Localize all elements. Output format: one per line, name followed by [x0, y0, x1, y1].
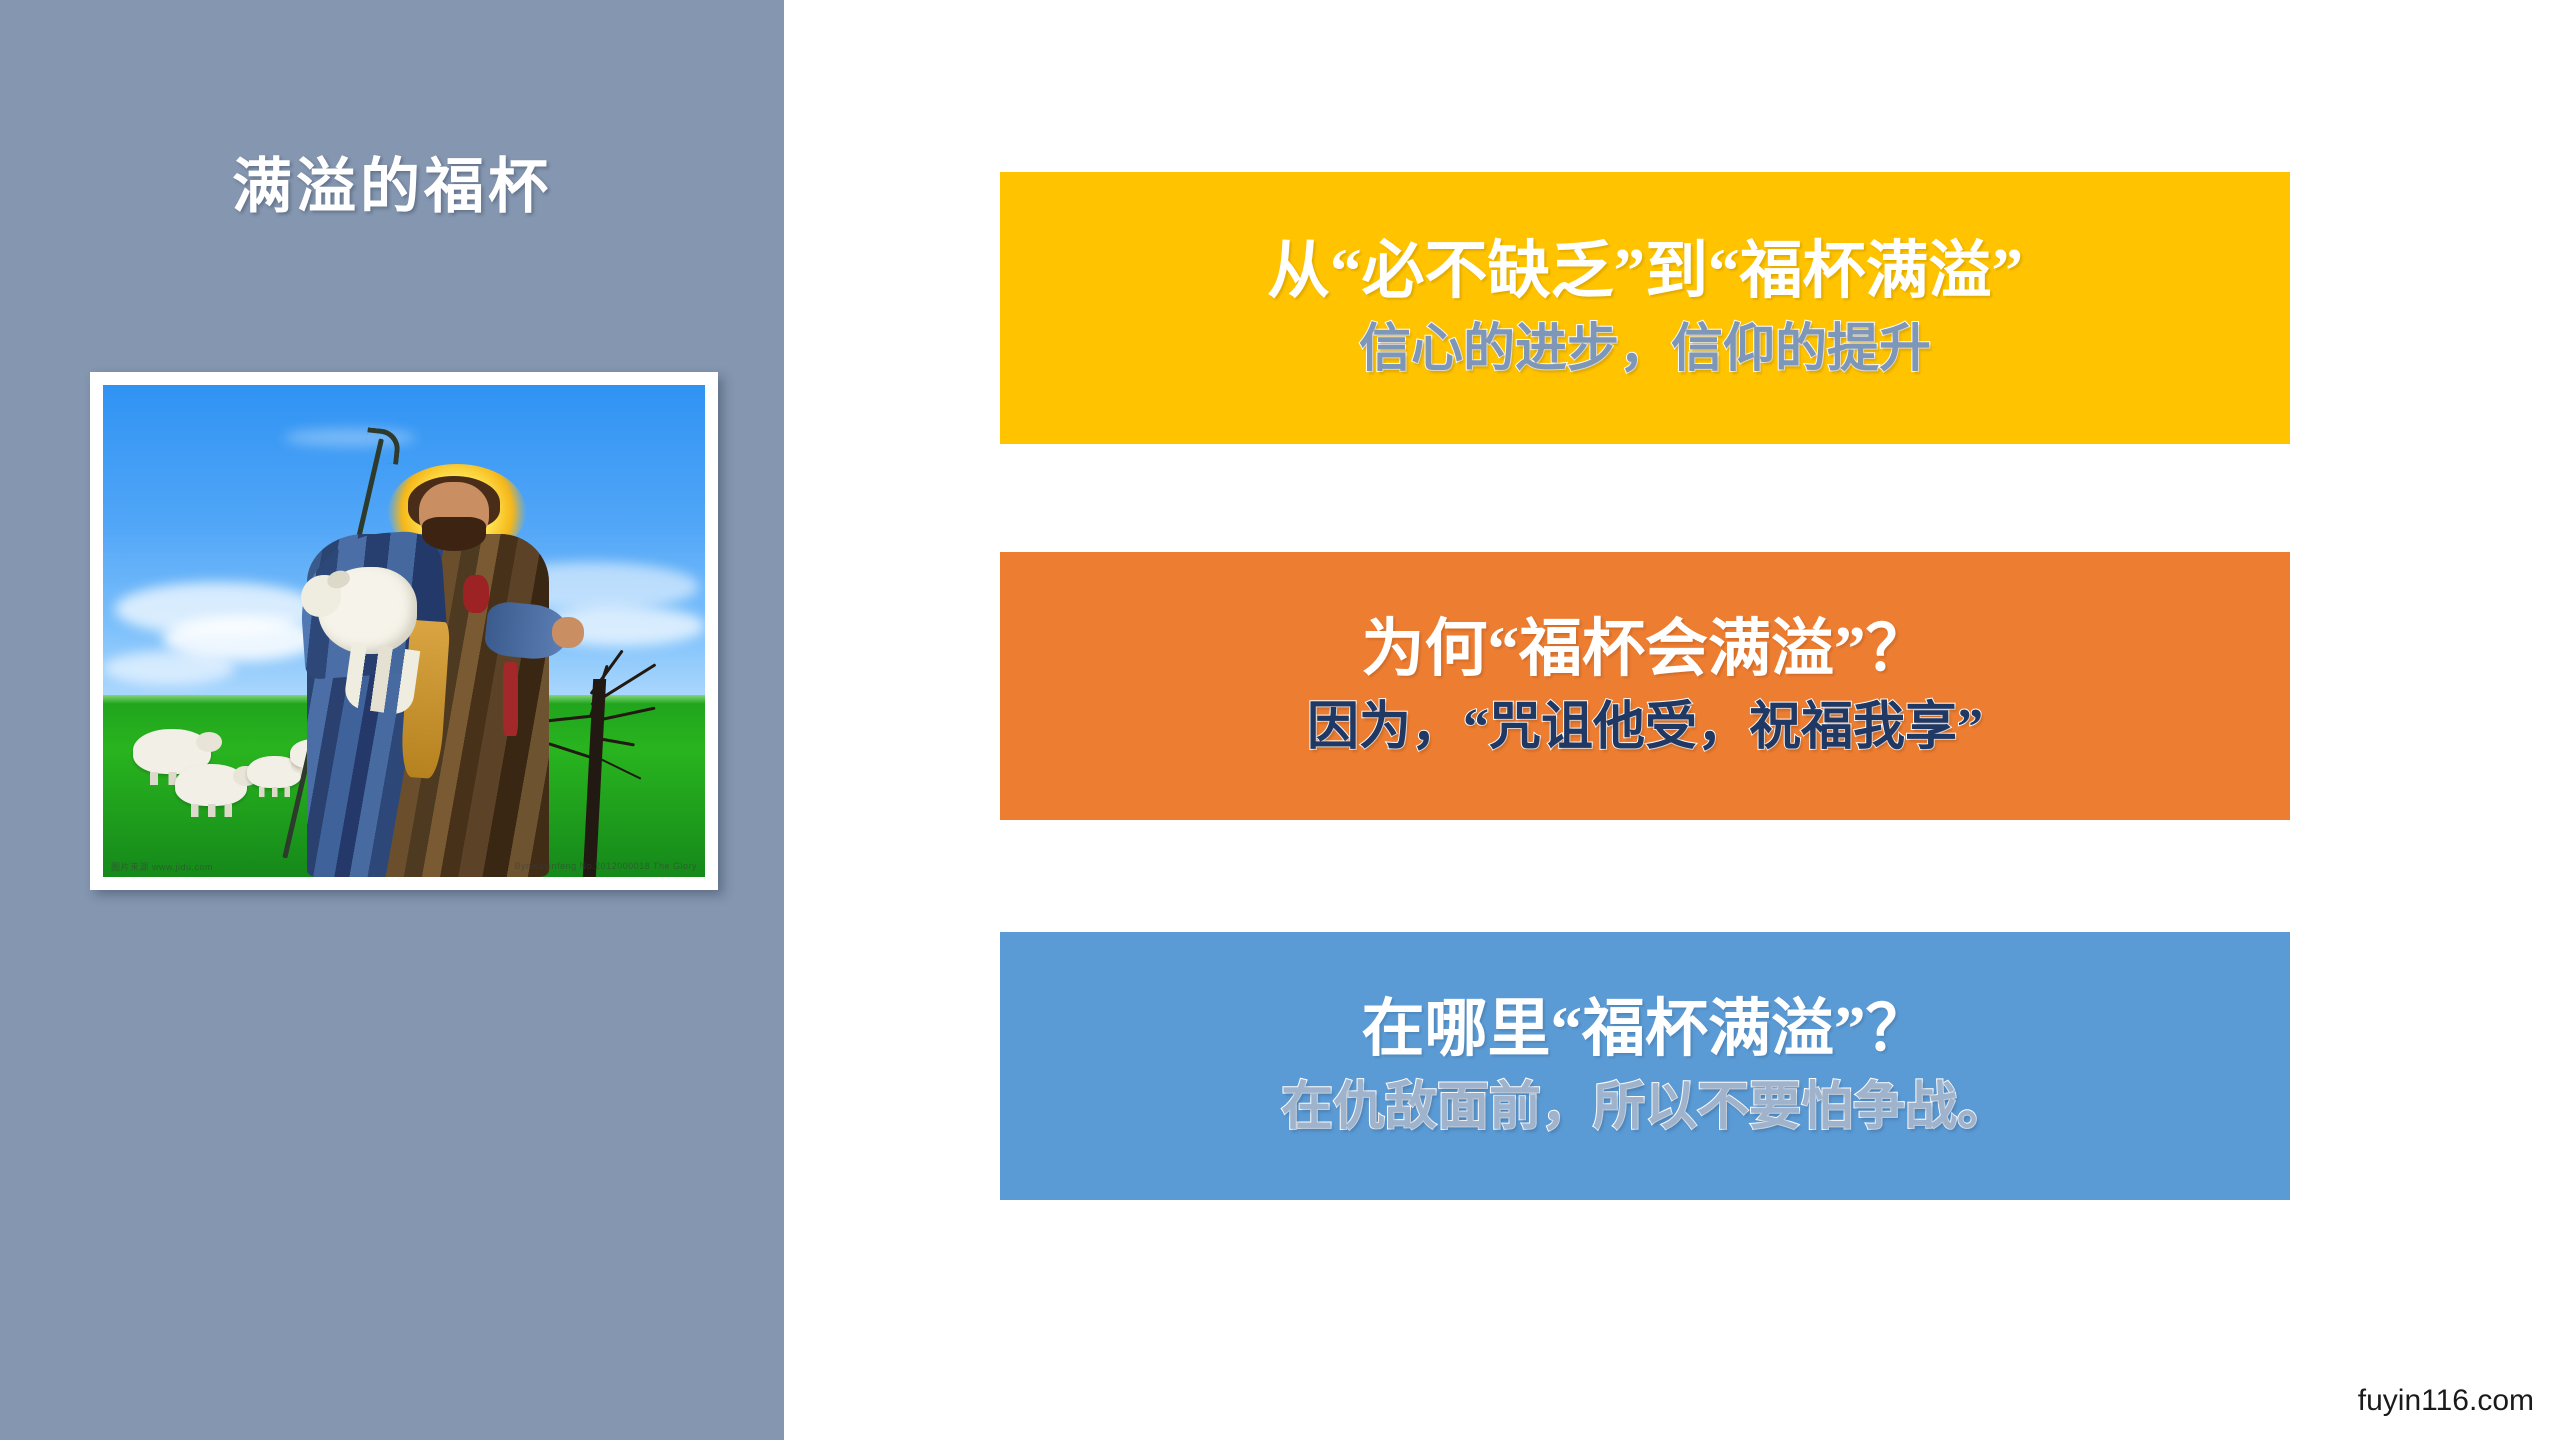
shepherd-picture-frame: 图片来源 www.jidu.com Bynwaxinfeng No.201200… [90, 372, 718, 890]
sheep-icon [175, 764, 247, 806]
robe-accent [503, 662, 517, 736]
band-2-subheading: 因为，“咒诅他受，祝福我享” [1307, 697, 1983, 759]
band-3-heading: 在哪里“福杯满溢”？ [1362, 993, 1929, 1065]
band-1-subheading: 信心的进步，信仰的提升 [1359, 319, 1931, 381]
content-bands: 从“必不缺乏”到“福杯满溢” 信心的进步，信仰的提升 为何“福杯会满溢”？ 因为… [1000, 0, 2290, 1440]
site-watermark: fuyin116.com [2358, 1384, 2534, 1418]
band-2-heading: 为何“福杯会满溢”？ [1362, 613, 1929, 685]
picture-watermark-right: Bynwaxinfeng No.2012000018 The Glory [515, 861, 697, 871]
left-panel: 满溢的福杯 [0, 0, 784, 1440]
slide-root: 满溢的福杯 [0, 0, 2560, 1440]
shepherd-picture: 图片来源 www.jidu.com Bynwaxinfeng No.201200… [103, 385, 705, 877]
band-1-heading: 从“必不缺乏”到“福杯满溢” [1267, 235, 2023, 307]
content-band-2: 为何“福杯会满溢”？ 因为，“咒诅他受，祝福我享” [1000, 552, 2290, 820]
page-title: 满溢的福杯 [0, 152, 784, 221]
picture-watermark: 图片来源 www.jidu.com Bynwaxinfeng No.201200… [103, 855, 705, 877]
cloud-icon [103, 651, 235, 685]
content-band-3: 在哪里“福杯满溢”？ 在仇敌面前，所以不要怕争战。 [1000, 932, 2290, 1200]
hand [552, 617, 584, 648]
robe-accent [463, 575, 489, 612]
picture-watermark-left: 图片来源 www.jidu.com [111, 860, 213, 873]
content-band-1: 从“必不缺乏”到“福杯满溢” 信心的进步，信仰的提升 [1000, 172, 2290, 444]
band-3-subheading: 在仇敌面前，所以不要怕争战。 [1281, 1077, 2009, 1139]
beard [422, 517, 486, 550]
lamb-legs [343, 641, 421, 716]
shepherd-figure [284, 464, 573, 877]
